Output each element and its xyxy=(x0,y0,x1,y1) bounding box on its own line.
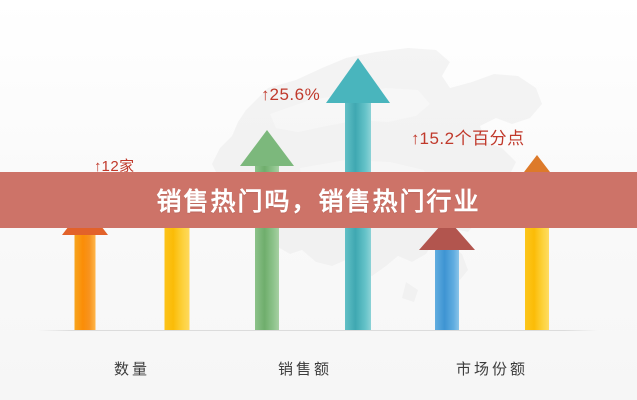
arrow-bar-marketshare-previous xyxy=(419,218,475,330)
infographic-canvas: ↑12家 ↑25.6% ↑15.2个百分点 数量 销售额 市场份额 销售热门吗，… xyxy=(0,0,637,400)
arrow-shaft xyxy=(435,250,459,330)
annotation-sales: ↑25.6% xyxy=(261,85,320,105)
arrow-shaft xyxy=(165,211,190,330)
axis-label-marketshare: 市场份额 xyxy=(456,358,528,379)
annotation-value: 15.2个百分点 xyxy=(420,129,525,148)
arrow-head-icon xyxy=(326,58,390,103)
axis-label-sales: 销售额 xyxy=(278,358,332,379)
arrow-bar-sales-previous xyxy=(240,130,294,330)
up-arrow-icon: ↑ xyxy=(411,129,419,148)
title-banner: 销售热门吗，销售热门行业 xyxy=(0,172,637,228)
annotation-marketshare: ↑15.2个百分点 xyxy=(411,124,525,149)
arrow-shaft xyxy=(75,235,96,330)
axis-baseline xyxy=(38,330,598,331)
page-title: 销售热门吗，销售热门行业 xyxy=(156,182,480,218)
up-arrow-icon: ↑ xyxy=(261,85,269,104)
arrow-head-icon xyxy=(240,130,294,166)
axis-label-quantity: 数量 xyxy=(114,358,150,379)
annotation-value: 25.6% xyxy=(270,85,321,104)
